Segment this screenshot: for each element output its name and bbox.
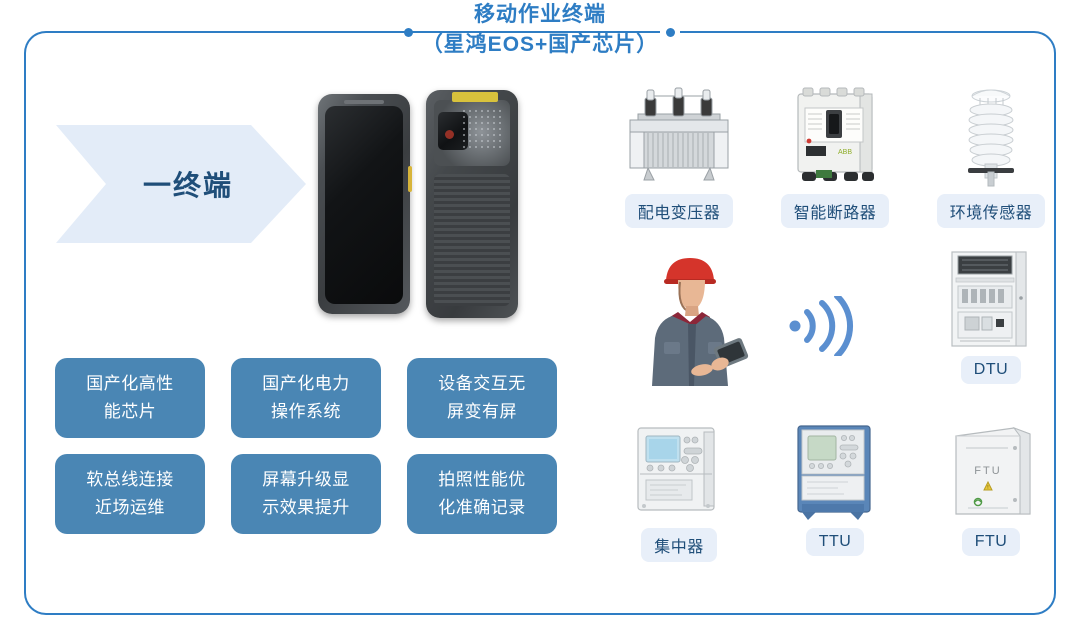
svg-text:ABB: ABB xyxy=(838,149,852,156)
wireless-signal-icon xyxy=(786,296,856,356)
dtu-cabinet-icon xyxy=(932,246,1050,350)
device-dtu: DTU xyxy=(932,246,1050,384)
terminal-screen xyxy=(325,106,403,304)
device-ttu: TTU xyxy=(776,418,894,556)
svg-text:!: ! xyxy=(987,485,988,491)
texture-dots xyxy=(461,108,505,148)
ttu-terminal-icon xyxy=(776,418,894,522)
ftu-cabinet-icon: FTU ! xyxy=(932,418,1050,522)
back-grill-texture xyxy=(434,174,510,306)
feature-6-line-1: 拍照性能优 xyxy=(438,470,526,489)
feature-box-1[interactable]: 国产化高性能芯片 xyxy=(55,358,205,438)
infographic-canvas: 移动作业终端 （星鸿EOS+国产芯片） 一终端 xyxy=(0,0,1080,629)
page-title: 移动作业终端 （星鸿EOS+国产芯片） xyxy=(0,0,1080,60)
device-label-breaker: 智能断路器 xyxy=(781,194,890,228)
label-sticker xyxy=(452,92,498,102)
feature-1-line-2: 能芯片 xyxy=(104,402,157,421)
feature-box-grid: 国产化高性能芯片 国产化电力操作系统 设备交互无屏变有屏 软总线连接近场运维 屏… xyxy=(55,358,557,534)
feature-6-line-2: 化准确记录 xyxy=(438,498,526,517)
device-transformer: 配电变压器 xyxy=(620,84,738,228)
feature-3-line-2: 屏变有屏 xyxy=(447,402,517,421)
feature-1-line-1: 国产化高性 xyxy=(86,374,174,393)
feature-4-line-1: 软总线连接 xyxy=(86,470,174,489)
feature-5-line-1: 屏幕升级显 xyxy=(262,470,350,489)
device-concentrator: 集中器 xyxy=(620,418,738,562)
data-concentrator-icon xyxy=(620,418,738,522)
feature-4-line-2: 近场运维 xyxy=(95,498,165,517)
feature-box-6[interactable]: 拍照性能优化准确记录 xyxy=(407,454,557,534)
device-sensor: 环境传感器 xyxy=(932,84,1050,228)
side-button xyxy=(408,166,412,192)
earpiece-speaker xyxy=(344,100,384,104)
feature-box-4[interactable]: 软总线连接近场运维 xyxy=(55,454,205,534)
camera-plate xyxy=(434,100,510,166)
field-worker-illustration xyxy=(628,246,768,386)
feature-2-line-1: 国产化电力 xyxy=(262,374,350,393)
device-label-dtu: DTU xyxy=(961,356,1021,384)
feature-box-5[interactable]: 屏幕升级显示效果提升 xyxy=(231,454,381,534)
handheld-terminal-group xyxy=(318,90,518,325)
feature-box-3[interactable]: 设备交互无屏变有屏 xyxy=(407,358,557,438)
device-label-transformer: 配电变压器 xyxy=(625,194,734,228)
frame-border-bottom xyxy=(398,613,682,615)
title-line-2: （星鸿EOS+国产芯片） xyxy=(0,30,1080,60)
handheld-terminal-front xyxy=(318,94,410,314)
feature-2-line-2: 操作系统 xyxy=(271,402,341,421)
smart-circuit-breaker-icon: ABB xyxy=(776,84,894,188)
device-breaker: ABB 智能断路器 xyxy=(776,84,894,228)
device-label-ttu: TTU xyxy=(806,528,865,556)
device-label-concentrator: 集中器 xyxy=(641,528,717,562)
chevron-banner: 一终端 xyxy=(56,125,306,243)
device-label-sensor: 环境传感器 xyxy=(937,194,1046,228)
device-label-ftu: FTU xyxy=(962,528,1021,556)
ftu-body-text: FTU xyxy=(974,465,1001,477)
environment-sensor-icon xyxy=(932,84,1050,188)
handheld-terminal-back xyxy=(426,90,518,318)
feature-box-2[interactable]: 国产化电力操作系统 xyxy=(231,358,381,438)
distribution-transformer-icon xyxy=(620,84,738,188)
title-line-1: 移动作业终端 xyxy=(0,0,1080,30)
device-ftu: FTU ! FTU xyxy=(932,418,1050,556)
feature-5-line-2: 示效果提升 xyxy=(262,498,350,517)
chevron-label: 一终端 xyxy=(143,164,233,204)
feature-3-line-1: 设备交互无 xyxy=(438,374,526,393)
